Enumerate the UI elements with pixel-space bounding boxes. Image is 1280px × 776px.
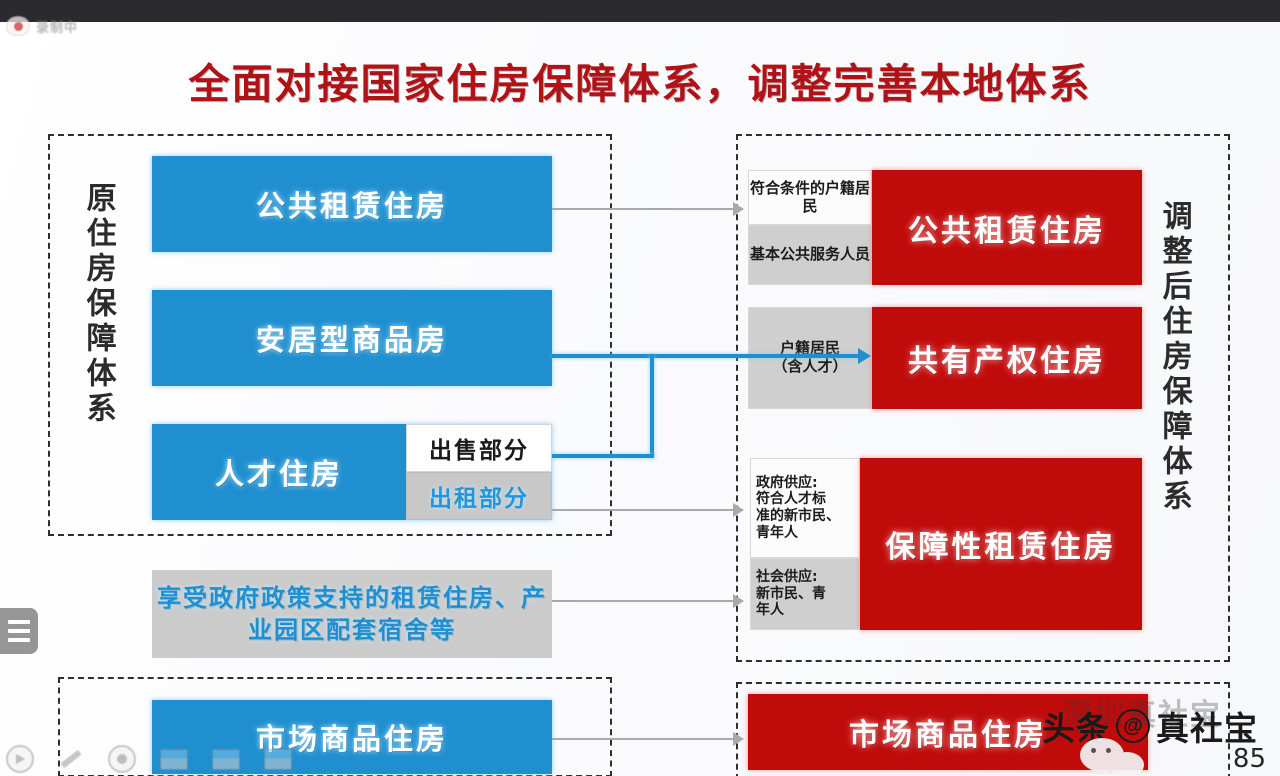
laser-icon[interactable] [108, 745, 136, 773]
arrow-support-box [733, 594, 744, 608]
connector-rent-part [552, 509, 736, 511]
recording-status-chip: 录制中 [6, 16, 78, 36]
old-system-label: 原住房保障体系 [82, 182, 113, 492]
new-group1-tag-eligible-residents[interactable]: 符合条件的户籍居民 [748, 170, 872, 225]
connector-support-box [552, 600, 736, 602]
arrow-rent-part [733, 503, 744, 517]
presenter-toolbar[interactable] [0, 742, 1280, 776]
connector-market [552, 738, 736, 740]
old-talent-housing-label: 人才住房 [152, 424, 406, 520]
connector-sell-branch [552, 454, 654, 458]
new-system-label: 调整后住房保障体系 [1158, 200, 1189, 588]
policy-supported-rental-box[interactable]: 享受政府政策支持的租赁住房、产业园区配套宿舍等 [152, 570, 552, 658]
arrow-shared-ownership [858, 348, 871, 364]
new-group2-tag-household-residents[interactable]: 户籍居民 （含人才） [748, 307, 872, 409]
slide-title: 全面对接国家住房保障体系，调整完善本地体系 [0, 50, 1280, 110]
new-group3-tag-government-supply[interactable]: 政府供应: 符合人才标 准的新市民、 青年人 [750, 458, 860, 558]
hamburger-icon[interactable] [0, 608, 38, 654]
grid-icon[interactable] [264, 749, 292, 770]
connector-sell-vertical [650, 354, 654, 458]
connector-anju-main [552, 354, 862, 358]
record-dot-icon [6, 16, 30, 36]
old-public-rental-housing-box[interactable]: 公共租赁住房 [152, 156, 552, 252]
talent-housing-rent-part[interactable]: 出租部分 [406, 472, 552, 520]
notes-icon[interactable] [212, 749, 240, 770]
play-icon[interactable] [6, 745, 34, 773]
presentation-slide: 全面对接国家住房保障体系，调整完善本地体系 原住房保障体系 公共租赁住房 安居型… [0, 22, 1280, 776]
slide-icon[interactable] [160, 749, 188, 770]
connector-public-rental [552, 208, 736, 210]
pencil-icon[interactable] [58, 748, 84, 770]
new-group3-tag-social-supply[interactable]: 社会供应: 新市民、青 年人 [750, 558, 860, 630]
old-anju-commodity-housing-box[interactable]: 安居型商品房 [152, 290, 552, 386]
new-public-rental-housing-box[interactable]: 公共租赁住房 [872, 170, 1142, 285]
new-guaranteed-rental-housing-box[interactable]: 保障性租赁住房 [860, 458, 1142, 630]
talent-housing-sell-part[interactable]: 出售部分 [406, 424, 552, 472]
new-shared-ownership-housing-box[interactable]: 共有产权住房 [872, 307, 1142, 409]
new-group1-tag-public-service-staff[interactable]: 基本公共服务人员 [748, 225, 872, 285]
arrow-public-rental [733, 202, 744, 216]
recording-top-bar [0, 0, 1280, 22]
recording-status-label: 录制中 [36, 17, 78, 36]
at-symbol-icon: @ [1116, 709, 1150, 743]
